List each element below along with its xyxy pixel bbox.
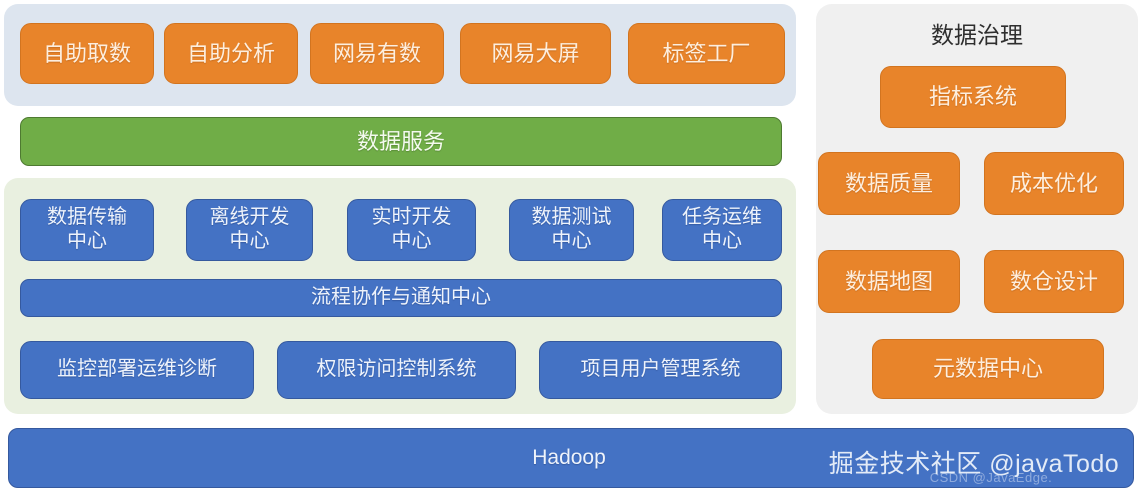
ops-box-access-control[interactable]: 权限访问控制系统	[277, 341, 516, 399]
center-box-offline-development[interactable]: 离线开发 中心	[186, 199, 313, 261]
app-box-netease-dashboard[interactable]: 网易大屏	[460, 23, 611, 84]
governance-box-warehouse-design[interactable]: 数仓设计	[984, 250, 1124, 313]
governance-box-data-quality[interactable]: 数据质量	[818, 152, 960, 215]
app-box-self-service-query[interactable]: 自助取数	[20, 23, 154, 84]
governance-box-indicator-system[interactable]: 指标系统	[880, 66, 1066, 128]
center-box-task-operations[interactable]: 任务运维 中心	[662, 199, 782, 261]
data-service-bar[interactable]: 数据服务	[20, 117, 782, 166]
center-box-realtime-development[interactable]: 实时开发 中心	[347, 199, 476, 261]
governance-box-metadata-center[interactable]: 元数据中心	[872, 339, 1104, 399]
app-box-netease-youdata[interactable]: 网易有数	[310, 23, 444, 84]
center-box-data-testing[interactable]: 数据测试 中心	[509, 199, 634, 261]
app-box-tag-factory[interactable]: 标签工厂	[628, 23, 785, 84]
process-collaboration-bar[interactable]: 流程协作与通知中心	[20, 279, 782, 317]
governance-box-cost-optimization[interactable]: 成本优化	[984, 152, 1124, 215]
governance-box-data-map[interactable]: 数据地图	[818, 250, 960, 313]
center-box-data-transfer[interactable]: 数据传输 中心	[20, 199, 154, 261]
ops-box-monitoring-deployment[interactable]: 监控部署运维诊断	[20, 341, 254, 399]
foundation-bar-label: Hadoop	[7, 446, 1131, 471]
governance-panel-title: 数据治理	[816, 16, 1138, 50]
ops-box-project-user-management[interactable]: 项目用户管理系统	[539, 341, 782, 399]
foundation-bar-hadoop[interactable]: Hadoop	[8, 428, 1134, 488]
architecture-diagram: 自助取数 自助分析 网易有数 网易大屏 标签工厂 数据服务 数据传输 中心 离线…	[0, 0, 1142, 492]
app-box-self-service-analysis[interactable]: 自助分析	[164, 23, 298, 84]
